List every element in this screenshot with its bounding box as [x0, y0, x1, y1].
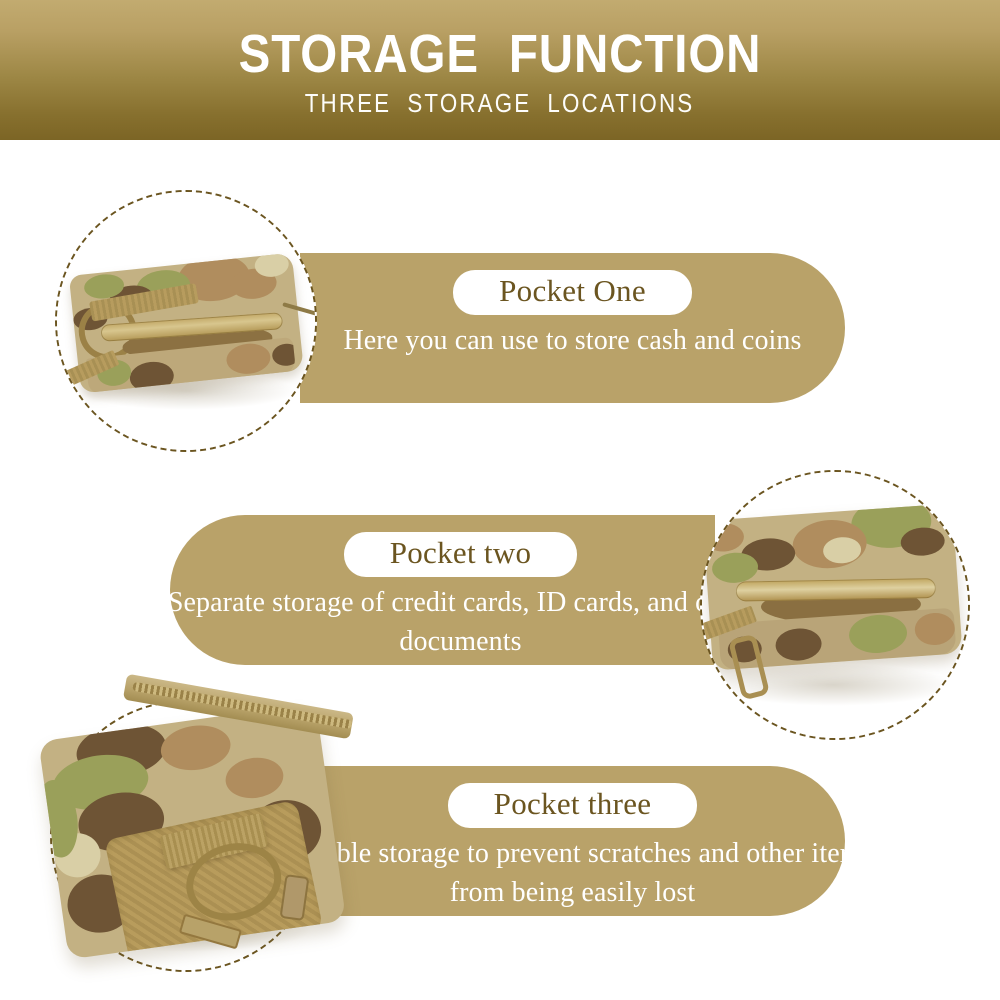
product-photo-clip: [57, 192, 315, 450]
camo-blob: [775, 627, 823, 662]
camo-blob: [128, 360, 175, 394]
camo-blob: [711, 551, 759, 584]
pouch-body: [69, 253, 304, 394]
product-photo-pocket-three: [50, 700, 322, 972]
camo-blob: [271, 342, 296, 367]
page-title: STORAGE FUNCTION: [239, 26, 762, 82]
section-band-pocket-one: Pocket One Here you can use to store cas…: [300, 253, 845, 403]
pouch-zipper: [736, 578, 936, 601]
header-banner: STORAGE FUNCTION THREE STORAGE LOCATIONS: [0, 0, 1000, 140]
section-band-pocket-two: Pocket two Separate storage of credit ca…: [170, 515, 715, 665]
product-photo-pocket-one: [55, 190, 317, 452]
product-photo-pocket-two: [700, 470, 970, 740]
camo-blob: [914, 612, 956, 647]
pouch-illustration-two: [703, 503, 964, 680]
camo-blob: [158, 721, 233, 774]
section-description-pocket-one: Here you can use to store cash and coins: [273, 321, 873, 360]
camo-blob: [822, 536, 862, 565]
camo-blob: [223, 754, 286, 802]
pouch-illustration-three: [27, 678, 374, 1000]
section-title-pocket-three: Pocket three: [448, 783, 698, 828]
product-photo-clip: [52, 702, 320, 970]
section-description-pocket-two: Separate storage of credit cards, ID car…: [141, 583, 781, 661]
camo-blob: [703, 522, 745, 553]
storage-function-infographic: STORAGE FUNCTION THREE STORAGE LOCATIONS…: [0, 0, 1000, 1000]
section-title-pocket-two: Pocket two: [344, 532, 578, 577]
pouch-illustration-one: [69, 253, 305, 406]
camo-blob: [848, 613, 909, 655]
camo-blob: [225, 342, 272, 376]
page-subtitle: THREE STORAGE LOCATIONS: [305, 88, 695, 118]
section-band-pocket-three: Pocket three Invisible storage to preven…: [300, 766, 845, 916]
section-title-pocket-one: Pocket One: [453, 270, 692, 315]
product-photo-clip: [702, 472, 968, 738]
